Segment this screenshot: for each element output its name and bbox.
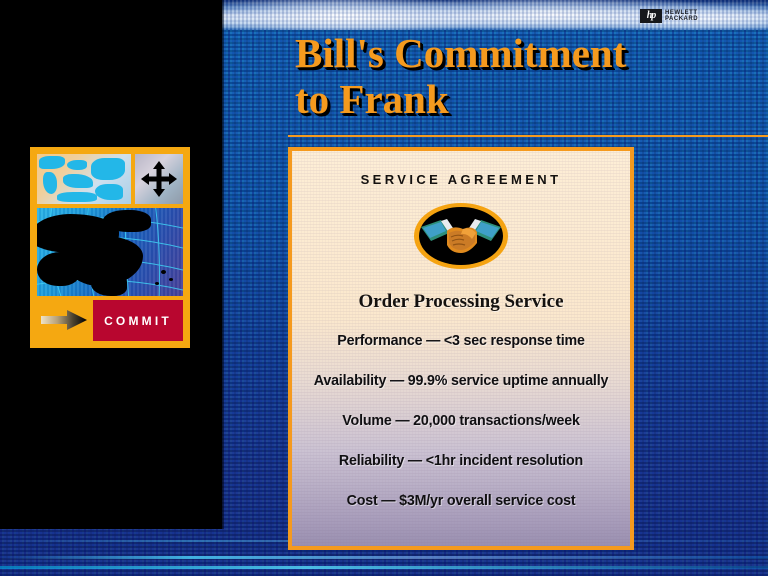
title-divider: [288, 135, 768, 137]
map-landmass: [67, 160, 87, 170]
hp-mark-icon: hp: [640, 9, 662, 23]
map-landmass: [39, 156, 65, 169]
list-item: Performance — <3 sec response time: [308, 333, 614, 348]
map-landmass: [95, 184, 123, 200]
service-terms-list: Performance — <3 sec response time Avail…: [300, 333, 622, 533]
graphic-panel: COMMIT: [31, 148, 189, 347]
commit-label: COMMIT: [104, 315, 172, 327]
list-item: Cost — $3M/yr overall service cost: [308, 493, 614, 508]
map-landmass: [43, 172, 57, 194]
globe-wireframe-image: [37, 208, 183, 296]
service-title: Order Processing Service: [292, 291, 630, 313]
hp-wordmark: HEWLETT PACKARD: [665, 10, 698, 22]
background-light-streak-mid: [0, 556, 768, 559]
gradient-arrow: [41, 310, 87, 330]
globe-island: [155, 282, 159, 285]
commit-row: COMMIT: [37, 300, 183, 341]
list-item: Volume — 20,000 transactions/week: [308, 413, 614, 428]
page-title: Bill's Commitment to Frank: [295, 30, 765, 122]
title-line-2: to Frank: [295, 76, 765, 122]
background-light-streak-bottom: [0, 566, 768, 569]
hp-word-packard: PACKARD: [665, 16, 698, 22]
map-landmass: [57, 192, 97, 202]
title-line-1: Bill's Commitment: [295, 30, 626, 76]
hp-logo: hp HEWLETT PACKARD: [640, 9, 698, 23]
list-item: Reliability — <1hr incident resolution: [308, 453, 614, 468]
globe-island: [161, 270, 166, 274]
left-black-panel-edge: [214, 0, 224, 529]
globe-landmass: [37, 252, 81, 286]
globe-island: [169, 278, 173, 281]
slide-canvas: hp HEWLETT PACKARD: [0, 0, 768, 576]
list-item: Availability — 99.9% service uptime annu…: [308, 373, 614, 388]
commit-button[interactable]: COMMIT: [93, 300, 183, 341]
handshake-seal-icon: [414, 203, 508, 269]
globe-landmass: [103, 210, 151, 232]
four-way-arrow-icon: [141, 161, 177, 197]
handshake-icon: [419, 207, 503, 265]
seal-core: [419, 207, 503, 265]
globe-landmass: [91, 274, 127, 296]
four-way-arrow-tile: [135, 154, 183, 204]
map-landmass: [63, 174, 93, 188]
map-landmass: [91, 158, 125, 180]
hp-mark-text: hp: [647, 11, 656, 21]
world-map-tile: [37, 154, 131, 204]
service-agreement-card: SERVICE AGREEMENT: [288, 147, 634, 550]
card-header: SERVICE AGREEMENT: [292, 173, 630, 186]
